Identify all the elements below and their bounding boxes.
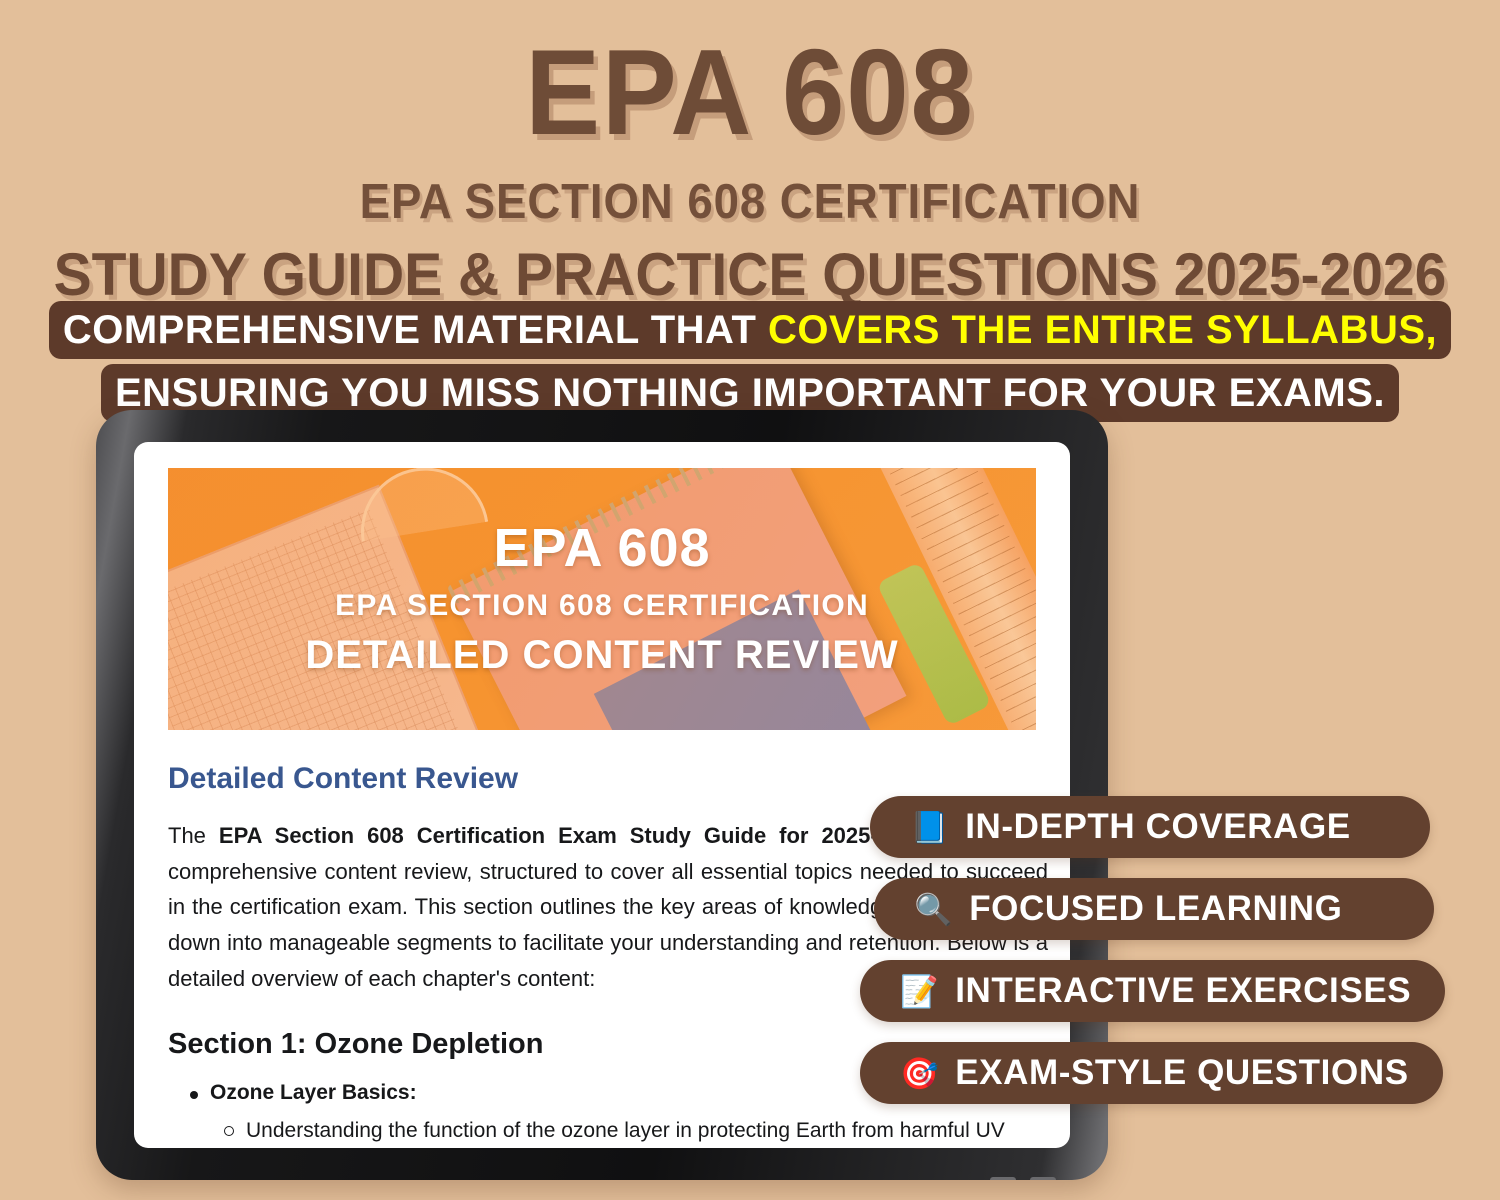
document-heading: Detailed Content Review: [168, 762, 1036, 796]
paragraph-part-1: The: [168, 823, 219, 848]
feature-pill-interactive-exercises[interactable]: 📝 INTERACTIVE EXERCISES: [860, 960, 1445, 1022]
feature-pill-list: 📘 IN-DEPTH COVERAGE 🔍 FOCUSED LEARNING 📝…: [860, 796, 1500, 1124]
feature-pill-label: EXAM-STYLE QUESTIONS: [955, 1053, 1408, 1093]
feature-pill-in-depth-coverage[interactable]: 📘 IN-DEPTH COVERAGE: [870, 796, 1430, 858]
feature-pill-exam-style-questions[interactable]: 🎯 EXAM-STYLE QUESTIONS: [860, 1042, 1443, 1104]
document-hero-image: EPA 608 EPA SECTION 608 CERTIFICATION DE…: [168, 468, 1036, 730]
page-title: EPA 608: [60, 28, 1440, 156]
hero-header: EPA 608 EPA SECTION 608 CERTIFICATION ST…: [0, 0, 1500, 308]
feature-pill-focused-learning[interactable]: 🔍 FOCUSED LEARNING: [874, 878, 1434, 940]
feature-pill-label: INTERACTIVE EXERCISES: [955, 971, 1411, 1011]
magnifying-glass-icon: 🔍: [914, 894, 953, 925]
tagline-text: COMPREHENSIVE MATERIAL THAT COVERS THE E…: [49, 301, 1451, 422]
feature-pill-label: FOCUSED LEARNING: [969, 889, 1342, 929]
blue-book-icon: 📘: [910, 812, 949, 843]
paragraph-bold-title: EPA Section 608 Certification Exam Study…: [219, 823, 927, 848]
document-hero-line-1: EPA 608: [493, 520, 710, 577]
tagline-highlight: COVERS THE ENTIRE SYLLABUS,: [768, 308, 1437, 352]
document-hero-line-3: DETAILED CONTENT REVIEW: [305, 633, 898, 678]
tagline-after: ENSURING YOU MISS NOTHING IMPORTANT FOR …: [115, 371, 1385, 415]
memo-pencil-icon: 📝: [900, 976, 939, 1007]
document-hero-line-2: EPA SECTION 608 CERTIFICATION: [335, 589, 869, 623]
hero-subtitle-line-1: EPA SECTION 608 CERTIFICATION: [53, 174, 1448, 232]
tablet-button-right[interactable]: [1030, 1177, 1056, 1180]
tagline-before: COMPREHENSIVE MATERIAL THAT: [63, 308, 768, 352]
tablet-button-left[interactable]: [990, 1177, 1016, 1180]
feature-pill-label: IN-DEPTH COVERAGE: [965, 807, 1351, 847]
hero-subtitle-line-2: STUDY GUIDE & PRACTICE QUESTIONS 2025-20…: [38, 242, 1463, 308]
document-hero-text: EPA 608 EPA SECTION 608 CERTIFICATION DE…: [168, 468, 1036, 730]
dart-target-icon: 🎯: [900, 1058, 939, 1089]
